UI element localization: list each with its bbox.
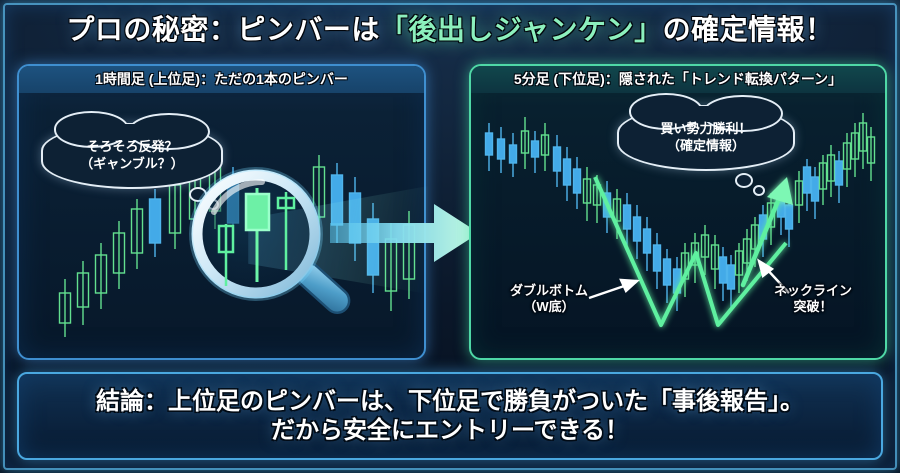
conclusion-line2: だから安全にエントリーできる！ — [271, 416, 629, 445]
label-double-bottom-line2: （W底） — [489, 299, 609, 315]
bubble-right-line2: （確定情報） — [660, 138, 751, 155]
transition-arrow-icon — [330, 196, 480, 270]
bubble-dot-small — [207, 199, 219, 210]
label-double-bottom: ダブルボトム （W底） — [489, 283, 609, 316]
conclusion-line1: 結論：上位足のピンバーは、下位足で勝負がついた「事後報告」。 — [96, 387, 804, 416]
label-double-bottom-line1: ダブルボトム — [489, 283, 609, 299]
candle — [96, 243, 107, 309]
title-part2: の確定情報！ — [663, 14, 834, 45]
thought-bubble-right: 買い勢力勝利！ （確定情報） — [617, 105, 791, 167]
title-part1: プロの秘密：ピンバーは — [66, 14, 380, 45]
panel-right-header: 5分足 (下位足)：隠された「トレンド転換パターン」 — [471, 66, 885, 93]
candle — [60, 279, 71, 337]
thought-bubble-left: そろそろ反発？ （ギャンブル？） — [41, 123, 219, 185]
title-highlight: 「後出しジャンケン」 — [380, 14, 663, 45]
label-neckline-line2: 突破！ — [759, 299, 867, 315]
label-neckline-break: ネックライン 突破！ — [759, 283, 867, 316]
candle — [150, 189, 161, 257]
candle — [228, 167, 239, 243]
bubble-left-line2: （ギャンブル？） — [80, 156, 184, 173]
page-title: プロの秘密：ピンバーは「後出しジャンケン」の確定情報！ — [0, 8, 900, 48]
bubble-dot-large — [189, 187, 207, 202]
bubble-right-line1: 買い勢力勝利！ — [660, 121, 751, 138]
candle — [78, 261, 89, 325]
candle — [114, 221, 125, 289]
panel-right-chart: 買い勢力勝利！ （確定情報） ダブルボトム （W底） ネックライン 突破！ — [471, 93, 885, 356]
bubble-right-dot-large — [735, 173, 753, 188]
bubble-right-dot-small — [753, 185, 765, 196]
panel-lower-timeframe: 5分足 (下位足)：隠された「トレンド転換パターン」 — [469, 64, 887, 360]
candle — [132, 199, 143, 269]
panel-left-header: 1時間足 (上位足)：ただの1本のピンバー — [19, 66, 424, 93]
bubble-left-line1: そろそろ反発？ — [80, 139, 184, 156]
label-neckline-line1: ネックライン — [759, 283, 867, 299]
conclusion-banner: 結論：上位足のピンバーは、下位足で勝負がついた「事後報告」。 だから安全にエント… — [17, 372, 883, 460]
